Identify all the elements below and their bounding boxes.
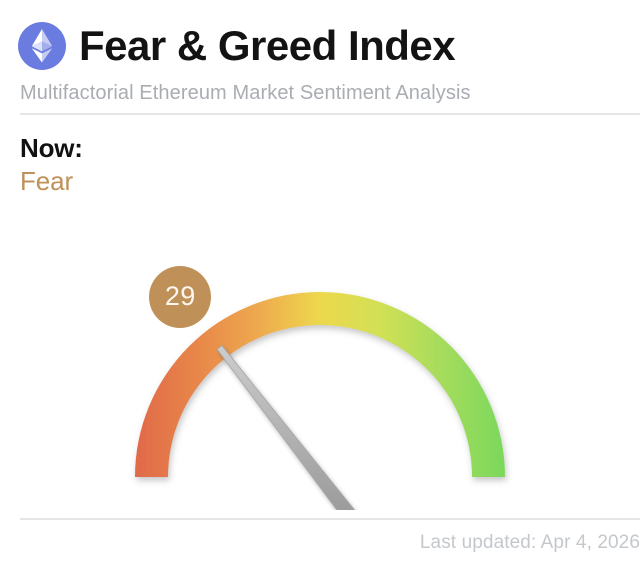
- gauge-value-badge: 29: [149, 266, 211, 328]
- header: Fear & Greed Index Multifactorial Ethere…: [0, 0, 640, 114]
- gauge-chart: [0, 180, 640, 510]
- footer: Last updated: Apr 4, 2026: [20, 532, 640, 554]
- status-now-label: Now:: [20, 133, 83, 164]
- gauge-value-number: 29: [165, 283, 196, 310]
- page-title: Fear & Greed Index: [79, 22, 455, 70]
- footer-divider: [20, 518, 640, 520]
- gauge-needle: [217, 346, 370, 510]
- last-updated-text: Last updated: Apr 4, 2026: [420, 532, 640, 553]
- ethereum-icon: [18, 22, 66, 70]
- gauge-svg: [0, 180, 640, 510]
- brand-row: Fear & Greed Index: [18, 18, 455, 74]
- fear-greed-index-card: Fear & Greed Index Multifactorial Ethere…: [0, 0, 640, 570]
- page-subtitle: Multifactorial Ethereum Market Sentiment…: [20, 82, 471, 105]
- header-divider: [20, 113, 640, 115]
